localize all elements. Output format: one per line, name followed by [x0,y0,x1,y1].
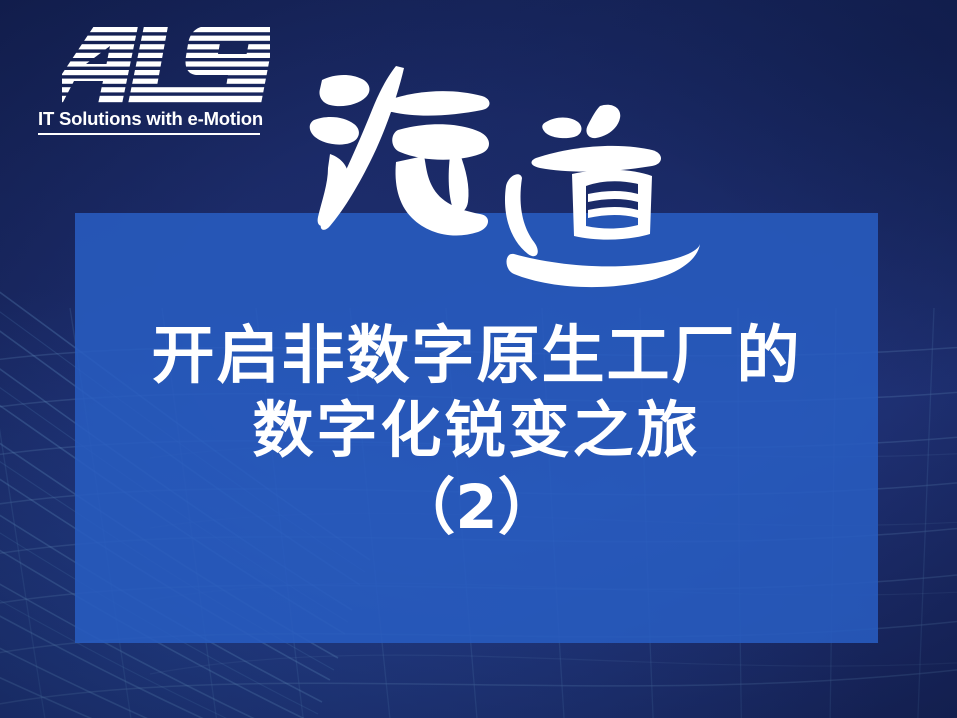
title-line-2: 数字化锐变之旅 [75,393,878,468]
alsi-logo-underline [38,133,260,135]
title-line-1: 开启非数字原生工厂的 [75,318,878,393]
presentation-slide: IT Solutions with e-Motion [0,0,957,718]
alsi-logo: IT Solutions with e-Motion [38,26,270,138]
alsi-logo-tagline: IT Solutions with e-Motion [38,108,260,130]
slide-title: 开启非数字原生工厂的 数字化锐变之旅 （2） [75,318,878,545]
alsi-striped-wordmark-icon [62,26,270,104]
title-line-3: （2） [75,470,878,545]
brush-calligraphy-lundao-icon [300,58,700,310]
